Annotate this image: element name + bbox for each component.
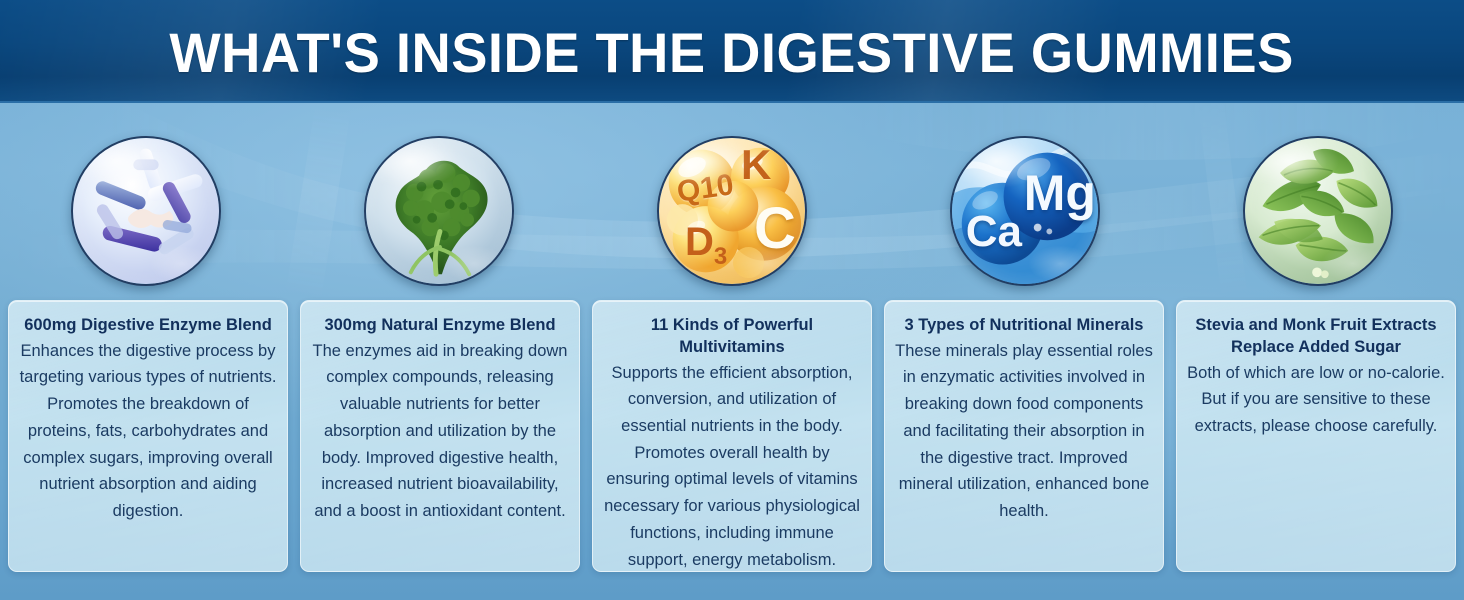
ingredient-card-nutritional-minerals[interactable]: 3 Types of Nutritional Minerals These mi… [884,300,1164,572]
ingredient-icon-cell [1171,136,1464,286]
ingredient-card-digestive-enzyme-blend[interactable]: 600mg Digestive Enzyme Blend Enhances th… [8,300,288,572]
card-title: 300mg Natural Enzyme Blend [310,315,570,337]
card-title: 3 Types of Nutritional Minerals [894,315,1154,337]
ingredient-card-natural-enzyme-blend[interactable]: 300mg Natural Enzyme Blend The enzymes a… [300,300,580,572]
ingredient-cards-row: 600mg Digestive Enzyme Blend Enhances th… [8,300,1456,572]
card-body: The enzymes aid in breaking down complex… [310,338,570,525]
ingredient-icon-cell [0,136,293,286]
ingredient-icon-cell: Q10 K C D3 [586,136,879,286]
card-body: These minerals play essential roles in e… [894,338,1154,525]
ingredient-icon-cell [293,136,586,286]
minerals-sphere-icon: Ca Mg [950,136,1100,286]
header-banner: WHAT'S INSIDE THE DIGESTIVE GUMMIES [0,0,1464,103]
page-title: WHAT'S INSIDE THE DIGESTIVE GUMMIES [170,21,1294,81]
ingredient-card-stevia-monk-fruit[interactable]: Stevia and Monk Fruit Extracts Replace A… [1176,300,1456,572]
vitamin-droplets-sphere-icon: Q10 K C D3 [657,136,807,286]
card-title: 600mg Digestive Enzyme Blend [18,315,278,337]
kale-greens-sphere-icon [364,136,514,286]
infographic-root: WHAT'S INSIDE THE DIGESTIVE GUMMIES [0,0,1464,600]
card-title: 11 Kinds of Powerful Multivitamins [602,315,862,359]
card-body: Supports the efficient absorption, conve… [602,360,862,572]
ingredient-icons-row: Q10 K C D3 [0,136,1464,286]
ingredient-card-multivitamins[interactable]: 11 Kinds of Powerful Multivitamins Suppo… [592,300,872,572]
card-title: Stevia and Monk Fruit Extracts Replace A… [1186,315,1446,359]
ingredient-icon-cell: Ca Mg [878,136,1171,286]
stevia-leaves-sphere-icon [1243,136,1393,286]
probiotic-bacteria-sphere-icon [71,136,221,286]
card-body: Enhances the digestive process by target… [18,338,278,525]
card-body: Both of which are low or no-calorie. But… [1186,360,1446,440]
